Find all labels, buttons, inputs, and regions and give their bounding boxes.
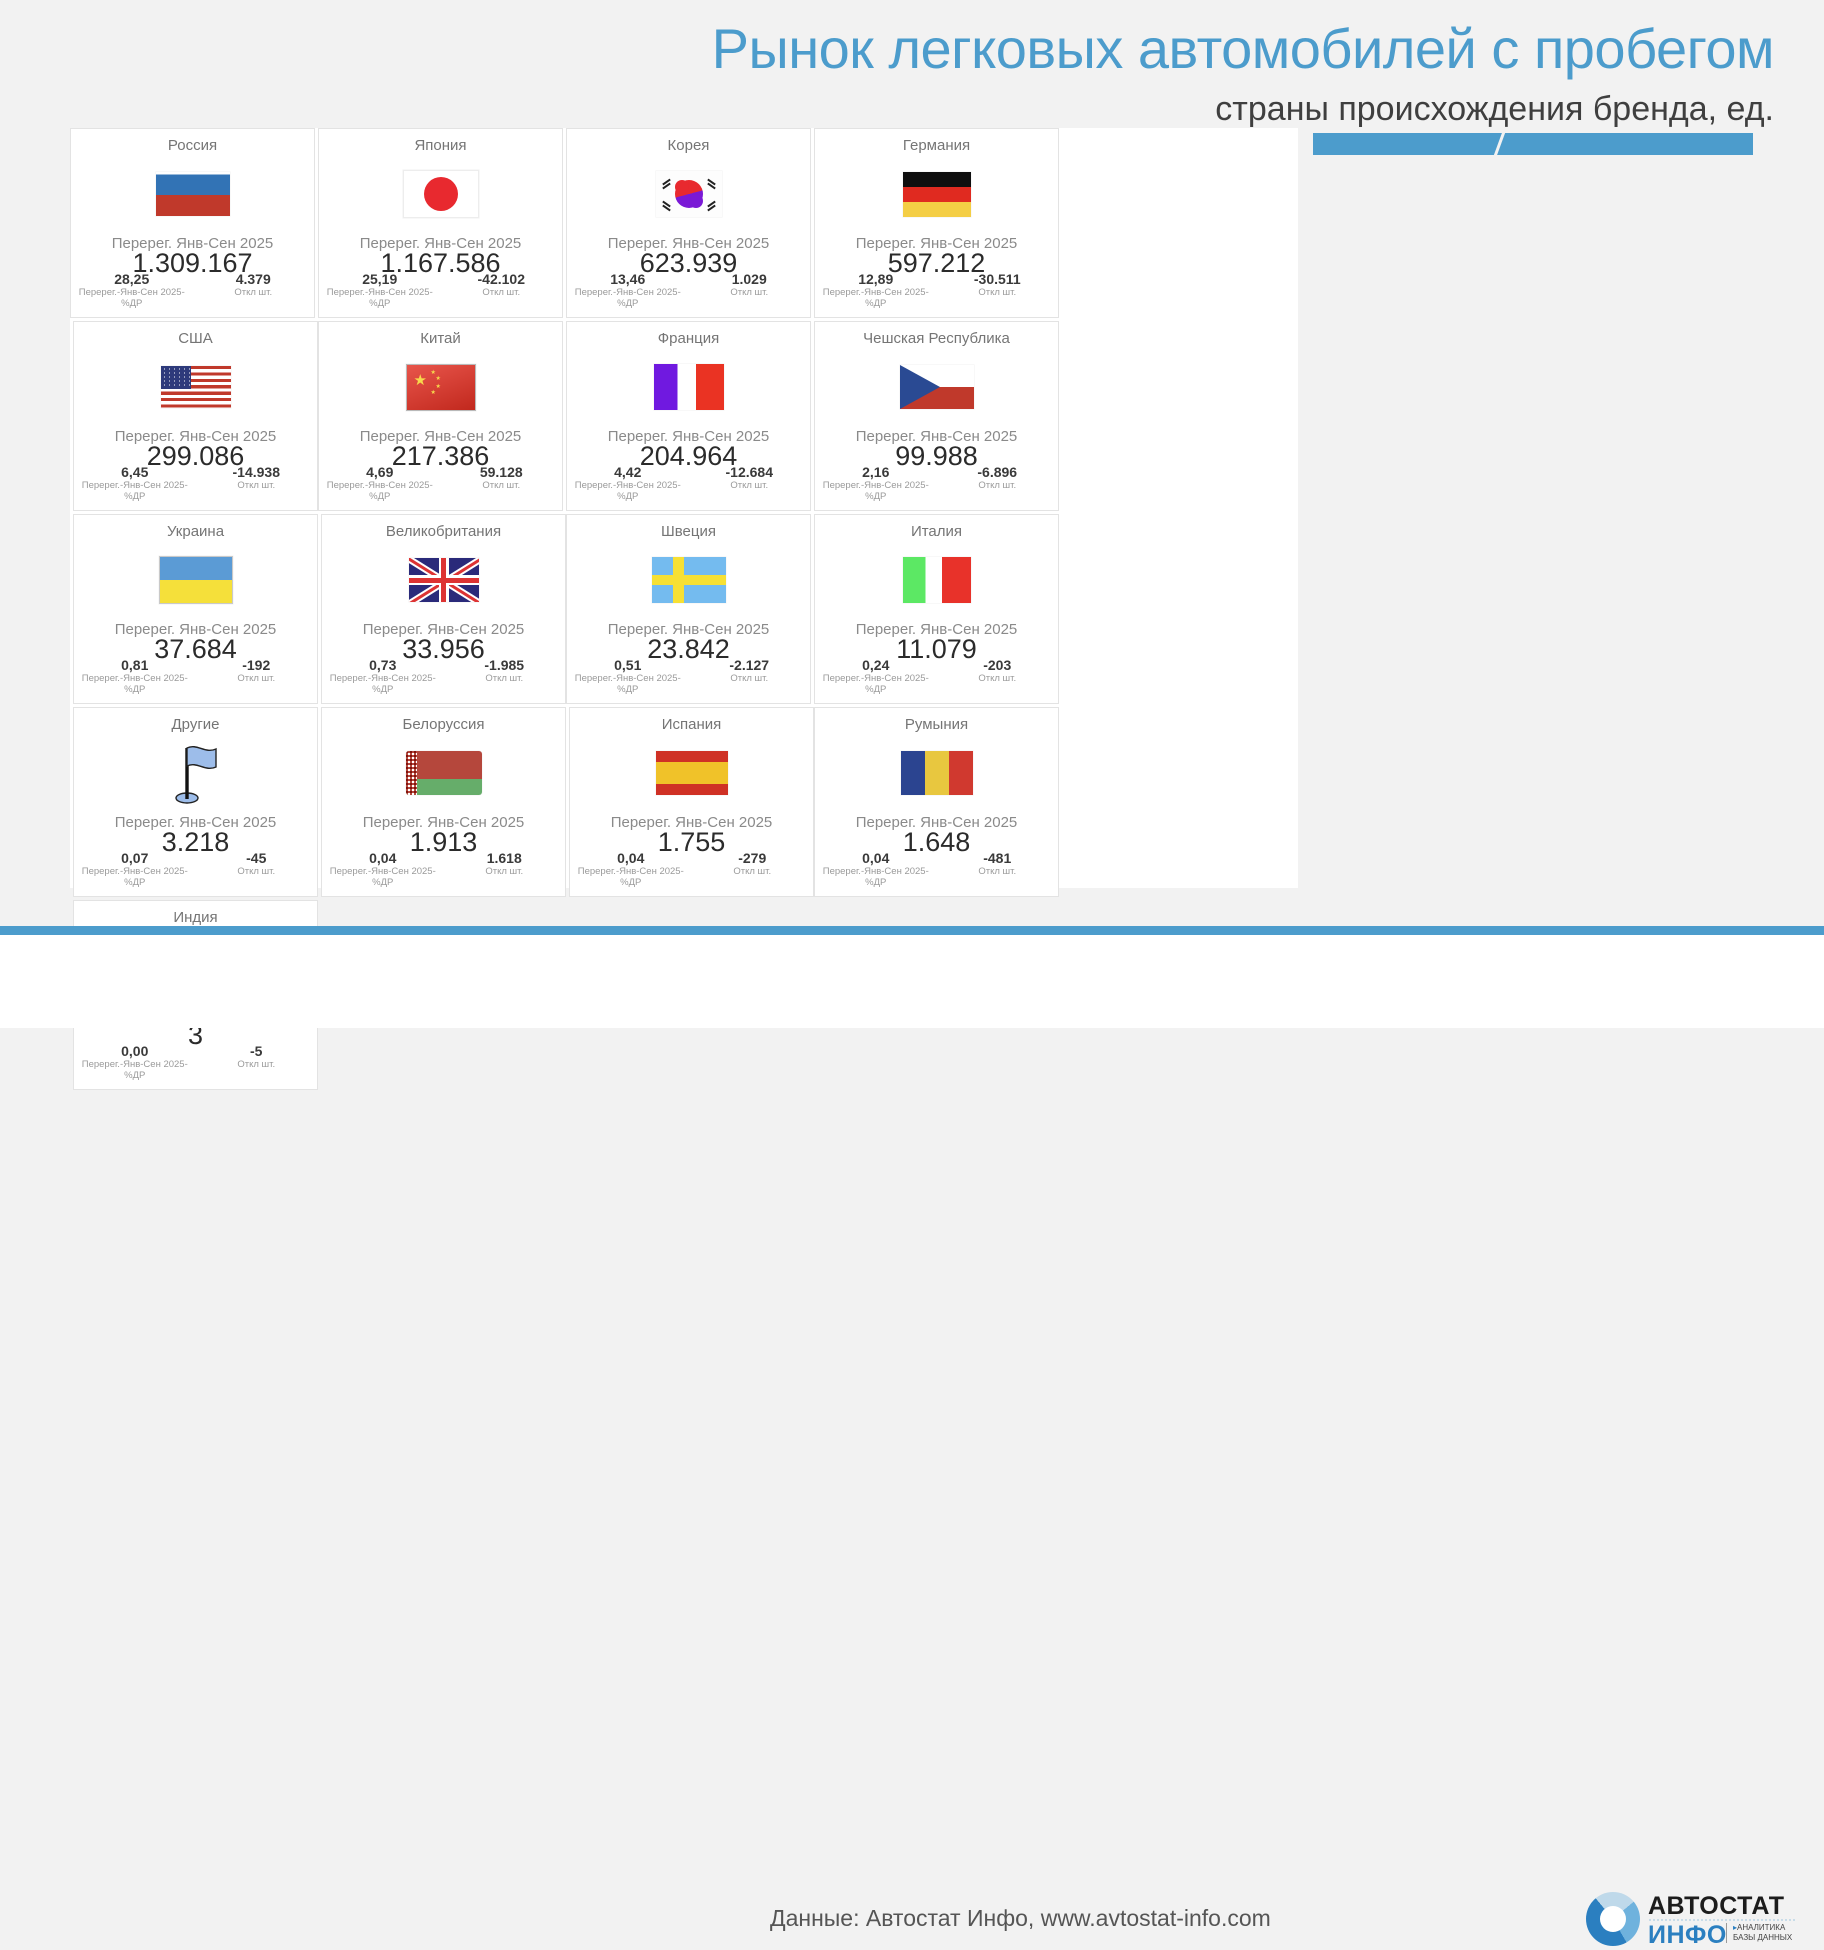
country-card[interactable]: ФранцияПеререг. Янв-Сен 2025204.9644,42П… (566, 321, 811, 511)
country-name: Великобритания (386, 523, 501, 541)
delta-metric: -42.102Откл шт. (441, 271, 563, 309)
delta-metric: -203Откл шт. (937, 657, 1059, 695)
delta-value: -5 (196, 1043, 318, 1059)
country-name: Франция (658, 330, 719, 348)
delta-value: -192 (196, 657, 318, 673)
country-card[interactable]: РоссияПеререг. Янв-Сен 20251.309.16728,2… (70, 128, 315, 318)
card-footer: 0,04Перерег.-Янв-Сен 2025-%ДР-279Откл шт… (570, 850, 813, 888)
country-name: Испания (662, 716, 722, 734)
country-card[interactable]: ИспанияПеререг. Янв-Сен 20251.7550,04Пер… (569, 707, 814, 897)
share-value: 0,24 (815, 657, 937, 673)
delta-value: 1.029 (689, 271, 811, 287)
share-metric: 12,89Перерег.-Янв-Сен 2025-%ДР (815, 271, 937, 309)
card-footer: 0,04Перерег.-Янв-Сен 2025-%ДР-481Откл шт… (815, 850, 1058, 888)
share-label: Перерег.-Янв-Сен 2025-%ДР (570, 866, 692, 888)
country-name: Украина (167, 523, 224, 541)
share-label: Перерег.-Янв-Сен 2025-%ДР (74, 866, 196, 888)
footer-accent-rule (0, 926, 1824, 935)
share-label: Перерег.-Янв-Сен 2025-%ДР (815, 480, 937, 502)
logo-swirl-icon (1586, 1892, 1640, 1946)
country-name: Китай (420, 330, 461, 348)
country-name: Корея (668, 137, 710, 155)
share-value: 25,19 (319, 271, 441, 287)
share-label: Перерег.-Янв-Сен 2025-%ДР (322, 673, 444, 695)
share-metric: 28,25Перерег.-Янв-Сен 2025-%ДР (71, 271, 193, 309)
share-value: 4,42 (567, 464, 689, 480)
share-value: 0,81 (74, 657, 196, 673)
delta-value: -45 (196, 850, 318, 866)
delta-metric: -481Откл шт. (937, 850, 1059, 888)
country-card[interactable]: ГерманияПеререг. Янв-Сен 2025597.21212,8… (814, 128, 1059, 318)
delta-metric: -45Откл шт. (196, 850, 318, 888)
delta-label: Откл шт. (196, 673, 318, 684)
share-metric: 0,04Перерег.-Янв-Сен 2025-%ДР (815, 850, 937, 888)
sweden-flag (652, 549, 726, 611)
card-footer: 2,16Перерег.-Янв-Сен 2025-%ДР-6.896Откл … (815, 464, 1058, 502)
card-footer: 4,69Перерег.-Янв-Сен 2025-%ДР59.128Откл … (319, 464, 562, 502)
card-footer: 28,25Перерег.-Янв-Сен 2025-%ДР4.379Откл … (71, 271, 314, 309)
share-value: 0,73 (322, 657, 444, 673)
card-footer: 0,81Перерег.-Янв-Сен 2025-%ДР-192Откл шт… (74, 657, 317, 695)
country-card[interactable]: ВеликобританияПеререг. Янв-Сен 202533.95… (321, 514, 566, 704)
share-metric: 0,24Перерег.-Янв-Сен 2025-%ДР (815, 657, 937, 695)
ukraine-flag (159, 549, 233, 611)
country-name: Румыния (905, 716, 968, 734)
share-metric: 2,16Перерег.-Янв-Сен 2025-%ДР (815, 464, 937, 502)
country-card[interactable]: ДругиеПеререг. Янв-Сен 20253.2180,07Пере… (73, 707, 318, 897)
delta-label: Откл шт. (441, 287, 563, 298)
cards-board: РоссияПеререг. Янв-Сен 20251.309.16728,2… (70, 128, 1298, 888)
country-name: Германия (903, 137, 970, 155)
generic-flag-icon (171, 742, 221, 804)
delta-metric: -279Откл шт. (692, 850, 814, 888)
delta-label: Откл шт. (444, 866, 566, 877)
share-label: Перерег.-Янв-Сен 2025-%ДР (815, 866, 937, 888)
share-value: 0,07 (74, 850, 196, 866)
delta-metric: 1.618Откл шт. (444, 850, 566, 888)
share-metric: 0,04Перерег.-Янв-Сен 2025-%ДР (322, 850, 444, 888)
country-card[interactable]: УкраинаПеререг. Янв-Сен 202537.6840,81Пе… (73, 514, 318, 704)
share-metric: 0,81Перерег.-Янв-Сен 2025-%ДР (74, 657, 196, 695)
country-card[interactable]: КореяПеререг. Янв-Сен 2025623.93913,46Пе… (566, 128, 811, 318)
share-metric: 0,00Перерег.-Янв-Сен 2025-%ДР (74, 1043, 196, 1081)
country-name: Россия (168, 137, 217, 155)
delta-value: -6.896 (937, 464, 1059, 480)
share-value: 6,45 (74, 464, 196, 480)
page-subtitle: страны происхождения бренда, ед. (1215, 90, 1774, 129)
delta-value: -481 (937, 850, 1059, 866)
share-value: 0,04 (322, 850, 444, 866)
logo-tagline: ▸АНАЛИТИКА БАЗЫ ДАННЫХ (1726, 1923, 1792, 1943)
slide-footer: Данные: Автостат Инфо, www.avtostat-info… (0, 935, 1824, 1028)
czech-flag (900, 356, 974, 418)
share-value: 0,00 (74, 1043, 196, 1059)
delta-value: -12.684 (689, 464, 811, 480)
delta-value: 4.379 (193, 271, 315, 287)
share-metric: 0,07Перерег.-Янв-Сен 2025-%ДР (74, 850, 196, 888)
share-value: 0,04 (815, 850, 937, 866)
country-card[interactable]: ШвецияПеререг. Янв-Сен 202523.8420,51Пер… (566, 514, 811, 704)
belarus-flag (406, 742, 482, 804)
avtostat-info-logo: АВТОСТАТ ИНФО ▸АНАЛИТИКА БАЗЫ ДАННЫХ (1586, 1890, 1801, 1948)
delta-label: Откл шт. (937, 287, 1059, 298)
country-card[interactable]: РумынияПеререг. Янв-Сен 20251.6480,04Пер… (814, 707, 1059, 897)
logo-bottom-text: ИНФО (1648, 1921, 1727, 1950)
share-value: 4,69 (319, 464, 441, 480)
share-metric: 0,73Перерег.-Янв-Сен 2025-%ДР (322, 657, 444, 695)
delta-value: -279 (692, 850, 814, 866)
country-card[interactable]: СШАПеререг. Янв-Сен 2025299.0866,45Перер… (73, 321, 318, 511)
share-label: Перерег.-Янв-Сен 2025-%ДР (322, 866, 444, 888)
share-value: 12,89 (815, 271, 937, 287)
delta-value: -203 (937, 657, 1059, 673)
country-card[interactable]: Чешская РеспубликаПеререг. Янв-Сен 20259… (814, 321, 1059, 511)
card-footer: 12,89Перерег.-Янв-Сен 2025-%ДР-30.511Отк… (815, 271, 1058, 309)
share-label: Перерег.-Янв-Сен 2025-%ДР (74, 1059, 196, 1081)
card-footer: 0,04Перерег.-Янв-Сен 2025-%ДР1.618Откл ш… (322, 850, 565, 888)
share-label: Перерег.-Янв-Сен 2025-%ДР (567, 673, 689, 695)
delta-metric: -1.985Откл шт. (444, 657, 566, 695)
share-label: Перерег.-Янв-Сен 2025-%ДР (567, 480, 689, 502)
country-name: Италия (911, 523, 962, 541)
share-value: 2,16 (815, 464, 937, 480)
country-name: Швеция (661, 523, 716, 541)
delta-metric: -5Откл шт. (196, 1043, 318, 1081)
delta-metric: -6.896Откл шт. (937, 464, 1059, 502)
delta-metric: 59.128Откл шт. (441, 464, 563, 502)
share-metric: 0,04Перерег.-Янв-Сен 2025-%ДР (570, 850, 692, 888)
delta-label: Откл шт. (937, 480, 1059, 491)
usa-flag (161, 356, 231, 418)
delta-label: Откл шт. (689, 673, 811, 684)
russia-flag (156, 163, 230, 225)
delta-value: 1.618 (444, 850, 566, 866)
logo-tag-line2: БАЗЫ ДАННЫХ (1733, 1933, 1792, 1942)
germany-flag (903, 163, 971, 225)
logo-tag-line1: АНАЛИТИКА (1737, 1923, 1785, 1932)
share-value: 0,04 (570, 850, 692, 866)
page-title: Рынок легковых автомобилей с пробегом (712, 16, 1774, 81)
share-label: Перерег.-Янв-Сен 2025-%ДР (74, 673, 196, 695)
country-card[interactable]: Китай★★★★★Перерег. Янв-Сен 2025217.3864,… (318, 321, 563, 511)
share-label: Перерег.-Янв-Сен 2025-%ДР (74, 480, 196, 502)
romania-flag (901, 742, 973, 804)
delta-value: -2.127 (689, 657, 811, 673)
share-metric: 0,51Перерег.-Янв-Сен 2025-%ДР (567, 657, 689, 695)
delta-value: -1.985 (444, 657, 566, 673)
share-metric: 4,69Перерег.-Янв-Сен 2025-%ДР (319, 464, 441, 502)
country-name: Индия (173, 909, 217, 927)
card-footer: 6,45Перерег.-Янв-Сен 2025-%ДР-14.938Откл… (74, 464, 317, 502)
card-footer: 0,07Перерег.-Янв-Сен 2025-%ДР-45Откл шт. (74, 850, 317, 888)
delta-label: Откл шт. (689, 480, 811, 491)
share-label: Перерег.-Янв-Сен 2025-%ДР (815, 673, 937, 695)
france-flag (654, 356, 724, 418)
delta-value: -30.511 (937, 271, 1059, 287)
delta-value: -14.938 (196, 464, 318, 480)
share-metric: 25,19Перерег.-Янв-Сен 2025-%ДР (319, 271, 441, 309)
share-label: Перерег.-Янв-Сен 2025-%ДР (319, 480, 441, 502)
country-card[interactable]: ЯпонияПеререг. Янв-Сен 20251.167.58625,1… (318, 128, 563, 318)
china-flag: ★★★★★ (406, 356, 476, 418)
share-value: 13,46 (567, 271, 689, 287)
delta-label: Откл шт. (444, 673, 566, 684)
country-name: США (178, 330, 213, 348)
delta-label: Откл шт. (193, 287, 315, 298)
share-value: 0,51 (567, 657, 689, 673)
country-name: Япония (414, 137, 466, 155)
delta-metric: -30.511Откл шт. (937, 271, 1059, 309)
data-source-text: Данные: Автостат Инфо, www.avtostat-info… (770, 1905, 1271, 1932)
share-value: 28,25 (71, 271, 193, 287)
delta-metric: -14.938Откл шт. (196, 464, 318, 502)
delta-label: Откл шт. (441, 480, 563, 491)
delta-label: Откл шт. (196, 1059, 318, 1070)
delta-label: Откл шт. (937, 673, 1059, 684)
delta-label: Откл шт. (937, 866, 1059, 877)
country-name: Другие (171, 716, 219, 734)
delta-label: Откл шт. (196, 866, 318, 877)
country-card[interactable]: БелоруссияПеререг. Янв-Сен 20251.9130,04… (321, 707, 566, 897)
card-footer: 0,51Перерег.-Янв-Сен 2025-%ДР-2.127Откл … (567, 657, 810, 695)
delta-metric: -192Откл шт. (196, 657, 318, 695)
korea-flag (656, 163, 722, 225)
country-name: Чешская Республика (863, 330, 1010, 348)
country-name: Белоруссия (403, 716, 485, 734)
delta-metric: -2.127Откл шт. (689, 657, 811, 695)
card-footer: 25,19Перерег.-Янв-Сен 2025-%ДР-42.102Отк… (319, 271, 562, 309)
delta-metric: -12.684Откл шт. (689, 464, 811, 502)
uk-flag (409, 549, 479, 611)
card-footer: 13,46Перерег.-Янв-Сен 2025-%ДР1.029Откл … (567, 271, 810, 309)
delta-metric: 1.029Откл шт. (689, 271, 811, 309)
delta-value: 59.128 (441, 464, 563, 480)
share-label: Перерег.-Янв-Сен 2025-%ДР (319, 287, 441, 309)
share-label: Перерег.-Янв-Сен 2025-%ДР (815, 287, 937, 309)
card-footer: 0,24Перерег.-Янв-Сен 2025-%ДР-203Откл шт… (815, 657, 1058, 695)
japan-flag (403, 163, 479, 225)
header-accent-bar (1313, 133, 1753, 155)
country-card[interactable]: ИталияПеререг. Янв-Сен 202511.0790,24Пер… (814, 514, 1059, 704)
share-metric: 6,45Перерег.-Янв-Сен 2025-%ДР (74, 464, 196, 502)
card-footer: 0,00Перерег.-Янв-Сен 2025-%ДР-5Откл шт. (74, 1043, 317, 1081)
card-footer: 4,42Перерег.-Янв-Сен 2025-%ДР-12.684Откл… (567, 464, 810, 502)
share-label: Перерег.-Янв-Сен 2025-%ДР (567, 287, 689, 309)
share-metric: 4,42Перерег.-Янв-Сен 2025-%ДР (567, 464, 689, 502)
spain-flag (656, 742, 728, 804)
delta-label: Откл шт. (196, 480, 318, 491)
italy-flag (903, 549, 971, 611)
logo-top-text: АВТОСТАТ (1648, 1892, 1784, 1921)
delta-label: Откл шт. (692, 866, 814, 877)
card-footer: 0,73Перерег.-Янв-Сен 2025-%ДР-1.985Откл … (322, 657, 565, 695)
delta-value: -42.102 (441, 271, 563, 287)
share-label: Перерег.-Янв-Сен 2025-%ДР (71, 287, 193, 309)
share-metric: 13,46Перерег.-Янв-Сен 2025-%ДР (567, 271, 689, 309)
delta-metric: 4.379Откл шт. (193, 271, 315, 309)
delta-label: Откл шт. (689, 287, 811, 298)
